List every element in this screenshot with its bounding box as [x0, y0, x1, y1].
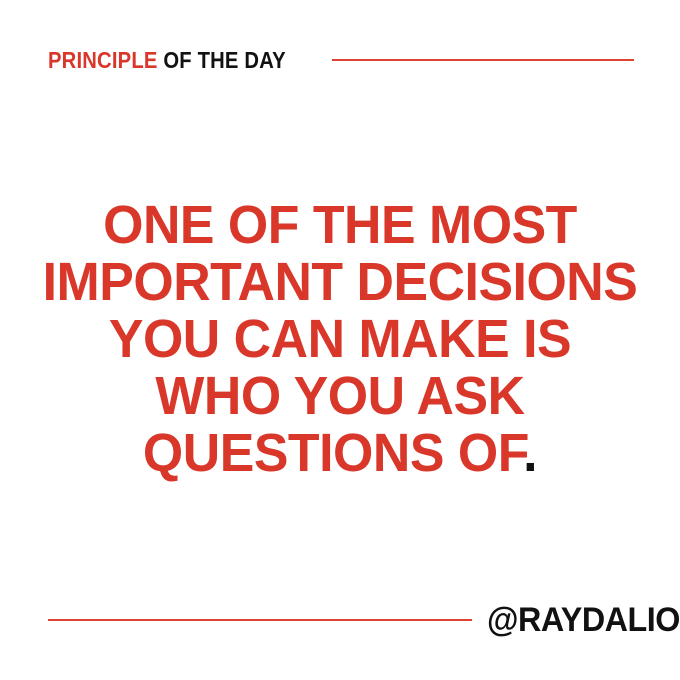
footer-divider-rule — [48, 619, 472, 621]
quote-line-final-text: QUESTIONS OF — [143, 423, 523, 483]
quote-line: IMPORTANT DECISIONS — [14, 254, 667, 311]
quote-line: ONE OF THE MOST — [14, 197, 667, 254]
header-kicker-rest: OF THE DAY — [158, 47, 286, 73]
header: PRINCIPLE OF THE DAY — [48, 44, 632, 76]
header-kicker-highlight: PRINCIPLE — [48, 47, 158, 73]
header-divider-rule — [332, 59, 634, 61]
quote-line: WHO YOU ASK — [14, 368, 667, 425]
principle-of-the-day-card: PRINCIPLE OF THE DAY ONE OF THE MOST IMP… — [0, 0, 680, 680]
header-kicker: PRINCIPLE OF THE DAY — [48, 49, 286, 72]
footer: @RAYDALIO — [48, 600, 633, 640]
quote-block: ONE OF THE MOST IMPORTANT DECISIONS YOU … — [0, 197, 680, 482]
author-handle[interactable]: @RAYDALIO — [487, 603, 680, 637]
quote-line-final: QUESTIONS OF. — [14, 425, 667, 482]
quote-period: . — [523, 423, 537, 483]
quote-line: YOU CAN MAKE IS — [14, 311, 667, 368]
